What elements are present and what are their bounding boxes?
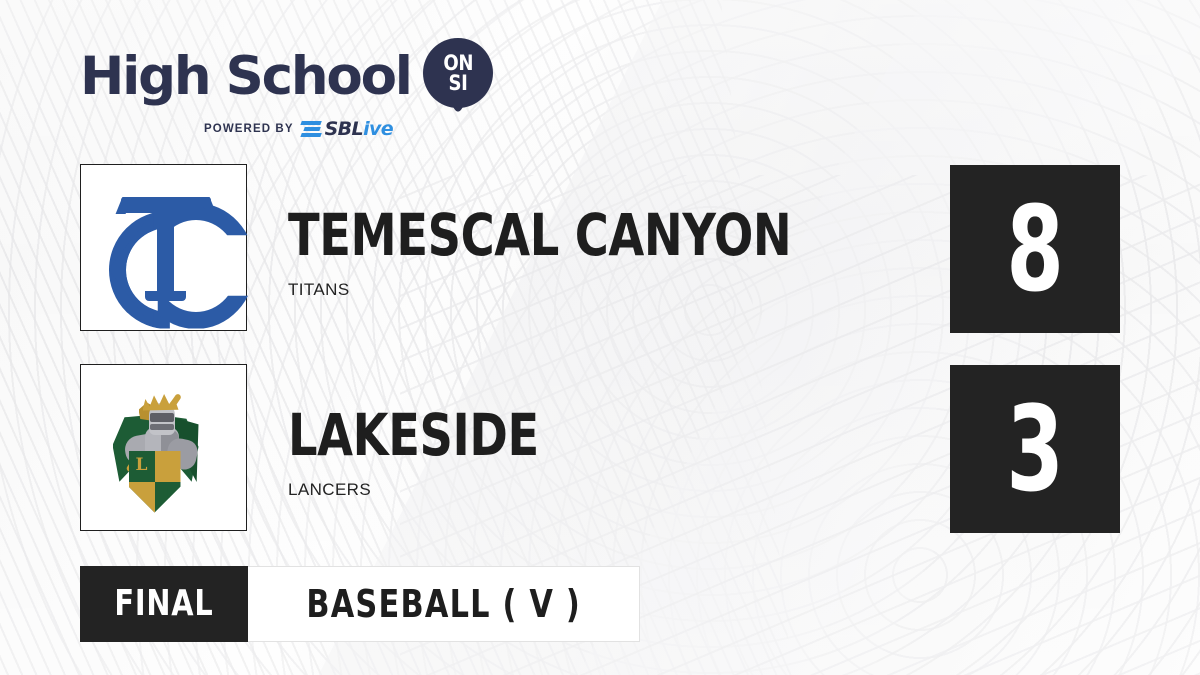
lancer-knight-icon: L L xyxy=(103,389,225,507)
shield-quarter-2 xyxy=(155,451,181,482)
team-name: TEMESCAL CANYON xyxy=(288,206,791,264)
team-score: 3 xyxy=(1006,390,1063,508)
tc-t-foot xyxy=(145,291,186,301)
sport-label-panel: BASEBALL ( V ) xyxy=(248,566,640,642)
brand-wordmark-row: High School ON SI xyxy=(80,38,493,114)
brand-wordmark: High School xyxy=(80,50,411,103)
sblive-wordmark-accent: ive xyxy=(363,118,393,140)
team-mascot: LANCERS xyxy=(288,480,371,500)
sblive-chevron-icon xyxy=(301,121,323,138)
scoreboard-graphic: High School ON SI POWERED BY SBLive xyxy=(0,0,1200,675)
brand-lockup: High School ON SI POWERED BY SBLive xyxy=(80,38,493,140)
pin-label-on: ON xyxy=(443,54,473,72)
team-score: 8 xyxy=(1006,190,1063,308)
team-score-box: 3 xyxy=(950,365,1120,533)
tc-monogram-icon xyxy=(107,197,225,301)
team-logo-box: L L xyxy=(80,364,247,531)
team-logo xyxy=(99,183,229,313)
team-score-box: 8 xyxy=(950,165,1120,333)
team-logo: L L xyxy=(99,383,229,513)
sblive-wordmark-main: SBL xyxy=(325,118,363,140)
knight-shield: L L xyxy=(129,451,181,513)
tc-t-stem xyxy=(157,197,174,301)
shield-quarter-3 xyxy=(129,482,155,513)
knight-visor-lower xyxy=(150,424,174,430)
team-name: LAKESIDE xyxy=(288,406,539,464)
sblive-logo: SBLive xyxy=(301,118,393,140)
on-si-pin-icon: ON SI xyxy=(423,38,493,114)
pin-label-si: SI xyxy=(448,74,467,92)
sport-label: BASEBALL ( V ) xyxy=(306,585,581,623)
powered-by-row: POWERED BY SBLive xyxy=(80,118,493,140)
shield-letter-bottom: L xyxy=(162,485,174,502)
powered-by-label: POWERED BY xyxy=(204,123,294,135)
team-logo-box xyxy=(80,164,247,331)
team-mascot: TITANS xyxy=(288,280,350,300)
game-state-badge: FINAL xyxy=(80,566,248,642)
sblive-wordmark: SBLive xyxy=(325,118,393,140)
game-state-label: FINAL xyxy=(114,586,213,622)
shield-letter-top: L xyxy=(136,457,148,474)
pin-label: ON SI xyxy=(423,38,493,108)
status-banner: FINAL BASEBALL ( V ) xyxy=(80,566,640,642)
knight-visor-upper xyxy=(150,413,174,422)
